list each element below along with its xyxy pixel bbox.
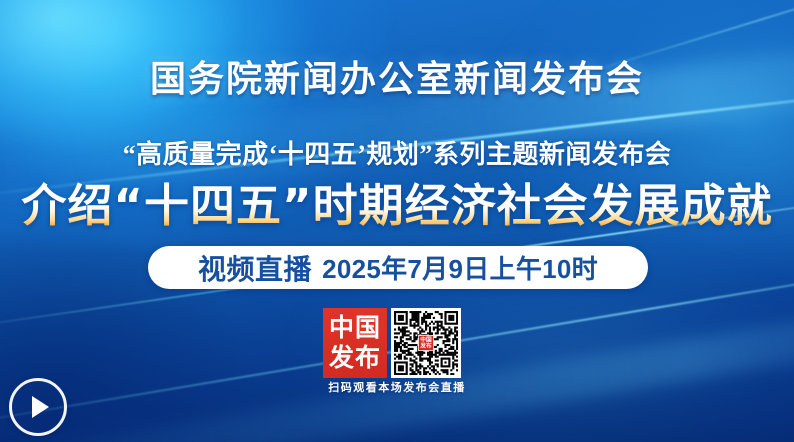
live-badge[interactable]: 视频直播 2025年7月9日上午10时 <box>148 246 648 289</box>
play-icon[interactable] <box>9 378 67 436</box>
play-triangle <box>32 396 49 418</box>
series-subtitle: “高质量完成‘十四五’规划”系列主题新闻发布会 <box>0 139 794 171</box>
china-release-logo: 中国 发布 <box>323 308 387 378</box>
logo-line-one: 中国 <box>329 314 381 343</box>
brand-row: 中国 发布 <box>323 308 461 378</box>
qr-caption: 扫码观看本场发布会直播 <box>0 379 794 395</box>
live-badge-datetime: 2025年7月9日上午10时 <box>322 249 598 286</box>
page-title: 国务院新闻办公室新闻发布会 <box>0 57 794 101</box>
qr-code-icon[interactable] <box>391 308 461 378</box>
logo-line-two: 发布 <box>329 344 381 373</box>
broadcast-poster: 国务院新闻办公室新闻发布会 “高质量完成‘十四五’规划”系列主题新闻发布会 介绍… <box>0 0 794 442</box>
live-badge-label: 视频直播 <box>198 248 312 288</box>
poster-content: 国务院新闻办公室新闻发布会 “高质量完成‘十四五’规划”系列主题新闻发布会 介绍… <box>0 0 794 442</box>
headline-container: 介绍“十四五”时期经济社会发展成就 <box>0 181 794 242</box>
headline-text: 介绍“十四五”时期经济社会发展成就 <box>21 181 772 231</box>
